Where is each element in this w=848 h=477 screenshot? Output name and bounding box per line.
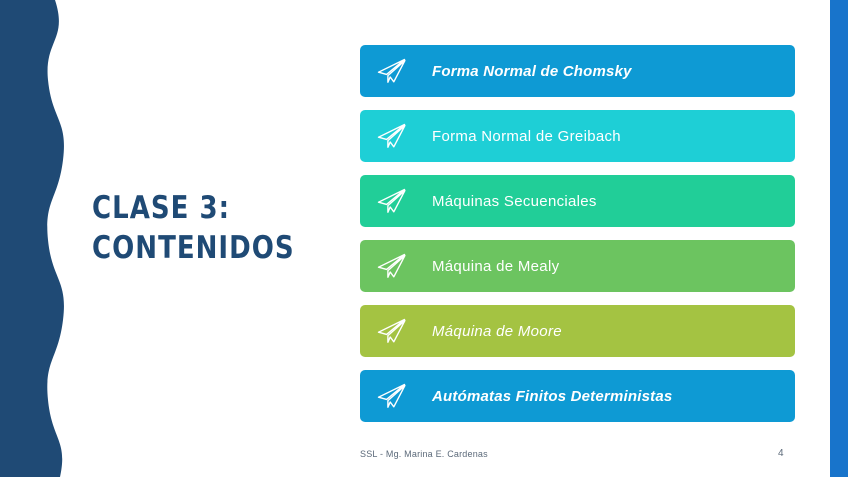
list-item[interactable]: Máquinas Secuenciales bbox=[360, 175, 795, 227]
paper-plane-icon bbox=[376, 383, 406, 409]
page-title-line-1: CLASE 3: bbox=[92, 188, 302, 228]
list-item[interactable]: Máquina de Mealy bbox=[360, 240, 795, 292]
list-item[interactable]: Autómatas Finitos Deterministas bbox=[360, 370, 795, 422]
list-item-label: Autómatas Finitos Deterministas bbox=[432, 388, 672, 405]
paper-plane-icon bbox=[376, 188, 406, 214]
list-item[interactable]: Máquina de Moore bbox=[360, 305, 795, 357]
page-title-line-2: CONTENIDOS bbox=[92, 228, 302, 268]
list-item[interactable]: Forma Normal de Greibach bbox=[360, 110, 795, 162]
list-item-label: Máquina de Mealy bbox=[432, 258, 559, 275]
list-item-label: Forma Normal de Chomsky bbox=[432, 63, 632, 80]
footer-credit: SSL - Mg. Marina E. Cardenas bbox=[360, 449, 488, 459]
list-item-label: Forma Normal de Greibach bbox=[432, 128, 621, 145]
footer-page-number: 4 bbox=[778, 448, 784, 459]
paper-plane-icon bbox=[376, 58, 406, 84]
paper-plane-icon bbox=[376, 123, 406, 149]
paper-plane-icon bbox=[376, 253, 406, 279]
paper-plane-icon bbox=[376, 318, 406, 344]
left-wave-decoration bbox=[0, 0, 70, 477]
contents-list: Forma Normal de Chomsky Forma Normal de … bbox=[360, 45, 795, 422]
list-item[interactable]: Forma Normal de Chomsky bbox=[360, 45, 795, 97]
list-item-label: Máquinas Secuenciales bbox=[432, 193, 597, 210]
slide-canvas: CLASE 3: CONTENIDOS Forma Normal de Chom… bbox=[0, 0, 848, 477]
list-item-label: Máquina de Moore bbox=[432, 323, 562, 340]
right-accent-bar bbox=[830, 0, 848, 477]
page-title: CLASE 3: CONTENIDOS bbox=[92, 188, 342, 268]
